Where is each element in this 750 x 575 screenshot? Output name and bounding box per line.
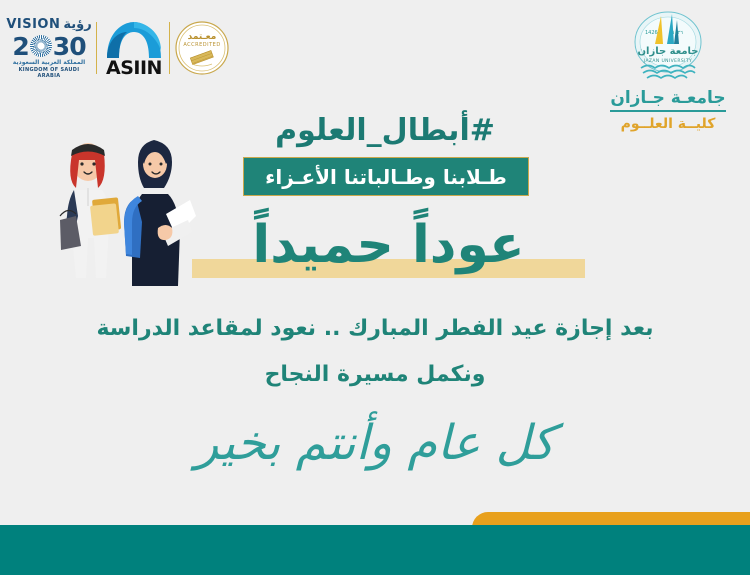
vision-digit-30: 30 (53, 34, 86, 59)
accredited-seal: معـتمد ACCREDITED (174, 20, 230, 76)
svg-text:ACCREDITED: ACCREDITED (183, 42, 220, 48)
welcome-back-heading: عوداً حميداً (192, 212, 585, 278)
male-student-illustration (60, 143, 121, 278)
university-identity: 1426 ١٤٢٦ جامعة جازان JAZAN UNIVERSITY ج… (598, 8, 738, 136)
kingdom-label-ar: المملكة العربية السعودية (8, 59, 90, 67)
accreditation-logo-strip: VISION رؤية 2 30 المملكة العربية السعودي… (0, 0, 240, 96)
vision-year: 2 30 (8, 33, 90, 59)
eid-calligraphy-text: كل عام وأنتم بخير (0, 415, 750, 471)
svg-text:١٤٢٦: ١٤٢٦ (672, 30, 683, 36)
jazan-university-crest-icon: 1426 ١٤٢٦ جامعة جازان JAZAN UNIVERSITY (625, 8, 711, 86)
vision-digit-2: 2 (12, 34, 28, 59)
vision-2030-logo: VISION رؤية 2 30 المملكة العربية السعودي… (8, 16, 90, 80)
svg-text:JAZAN UNIVERSITY: JAZAN UNIVERSITY (643, 58, 692, 64)
svg-text:1426: 1426 (645, 30, 658, 36)
saudi-vision-emblem-icon (30, 35, 52, 57)
kingdom-label-en: KINGDOM OF SAUDI ARABIA (8, 67, 90, 79)
svg-text:جامعة جازان: جامعة جازان (637, 46, 698, 57)
logo-divider-1 (96, 22, 97, 74)
asiin-wordmark: ASIIN (103, 59, 165, 78)
faculty-name-ar: كليــة العلــوم (598, 116, 738, 132)
poster-canvas: VISION رؤية 2 30 المملكة العربية السعودي… (0, 0, 750, 575)
greeting-banner: طـلابنا وطـالباتنا الأعـزاء (243, 157, 529, 196)
body-line-1: بعد إجازة عيد الفطر المبارك .. نعود لمقا… (0, 316, 750, 341)
asiin-arch-icon (103, 20, 165, 60)
body-line-2: ونكمل مسيرة النجاح (0, 362, 750, 387)
campaign-hashtag-text: #أبطال_العلوم (275, 113, 495, 148)
accredited-seal-icon: معـتمد ACCREDITED (174, 20, 230, 76)
svg-text:معـتمد: معـتمد (188, 32, 217, 42)
asiin-logo: ASIIN (103, 20, 165, 78)
university-name-ar: جامعـة جـازان (610, 88, 725, 112)
welcome-back-text: عوداً حميداً (252, 215, 524, 275)
footer-bar: @JazanU_Science وحدة العلاقات العامة وال… (0, 525, 750, 575)
greeting-banner-text: طـلابنا وطـالباتنا الأعـزاء (265, 165, 507, 189)
female-student-illustration (124, 140, 196, 286)
vision-word-ar: رؤية (63, 18, 91, 31)
logo-divider-2 (169, 22, 170, 74)
vision-word-en: VISION (6, 18, 60, 31)
campaign-hashtag: #أبطال_العلوم (243, 108, 527, 152)
vision-wordmark: VISION رؤية (8, 16, 90, 33)
